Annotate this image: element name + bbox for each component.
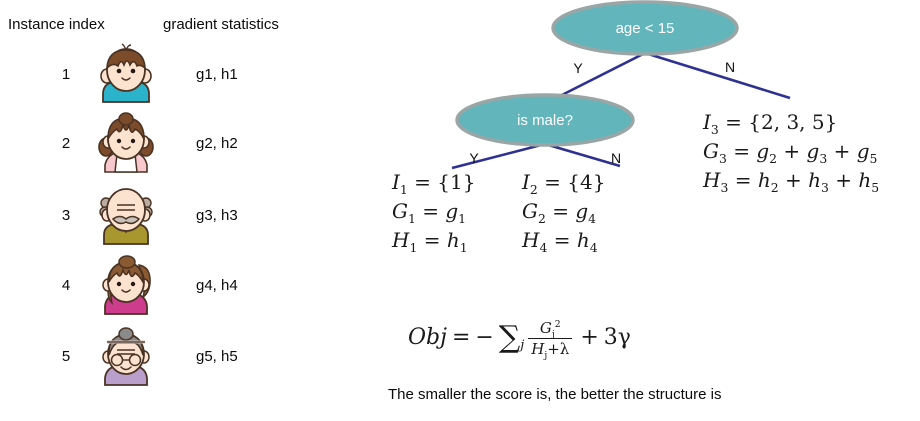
objective-minus-sign: −	[475, 325, 493, 350]
leaf-2-hessian-sum: H4 = h4	[522, 226, 605, 255]
gradient-statistics-value: g5, h5	[196, 348, 238, 365]
old-man-avatar-icon	[93, 183, 159, 249]
leaf-1-instance-set: I1 = {1}	[392, 168, 475, 197]
instance-row: 1 g1, h1	[0, 42, 340, 110]
leaf-2-gradient-sum: G2 = g4	[522, 197, 605, 226]
instance-table-panel: Instance index gradient statistics 1	[0, 0, 340, 421]
instance-index-value: 2	[55, 135, 77, 152]
instance-index-value: 1	[55, 66, 77, 83]
tree-edge-root-yes	[552, 53, 645, 100]
fraction-numerator: Gj2	[537, 319, 564, 338]
branch-label-root-no: N	[725, 59, 735, 75]
gradient-statistics-value: g1, h1	[196, 66, 238, 83]
girl-braids-avatar-icon	[93, 111, 159, 177]
summation-glyph: ∑	[499, 320, 520, 355]
caption-text: The smaller the score is, the better the…	[388, 386, 721, 403]
instance-row: 3 g3, h3	[0, 183, 340, 251]
leaf-1-statistics: I1 = {1} G1 = g1 H1 = h1	[392, 168, 475, 255]
tree-node-is-male-label: is male?	[517, 112, 573, 129]
branch-label-child-no: N	[611, 150, 621, 166]
instance-index-value: 3	[55, 207, 77, 224]
objective-equals: =	[452, 325, 470, 350]
instance-index-value: 5	[55, 348, 77, 365]
column-header-gradient-statistics: gradient statistics	[163, 16, 279, 33]
gradient-statistics-value: g4, h4	[196, 277, 238, 294]
tree-edge-child-yes	[452, 144, 545, 168]
gradient-statistics-value: g2, h2	[196, 135, 238, 152]
leaf-1-gradient-sum: G1 = g1	[392, 197, 475, 226]
leaf-2-statistics: I2 = {4} G2 = g4 H4 = h4	[522, 168, 605, 255]
branch-label-root-yes: Y	[573, 60, 583, 76]
objective-regularization-term: 3γ	[604, 325, 631, 350]
tree-edge-child-no	[545, 144, 620, 166]
xgboost-tree-structure-score-figure: Instance index gradient statistics 1	[0, 0, 920, 421]
leaf-3-statistics: I3 = {2, 3, 5} G3 = g2 + g3 + g5 H3 = h2…	[703, 108, 879, 195]
branch-label-child-yes: Y	[469, 150, 479, 166]
instance-index-value: 4	[55, 277, 77, 294]
summation-index: j	[520, 338, 524, 353]
leaf-3-gradient-sum: G3 = g2 + g3 + g5	[703, 137, 879, 166]
fraction-denominator: Hj+λ	[528, 338, 572, 358]
boy-avatar-icon	[93, 42, 159, 108]
instance-row: 2 g2, h2	[0, 111, 340, 179]
old-woman-avatar-icon	[93, 324, 159, 390]
instance-row: 4 g4, h4	[0, 253, 340, 321]
objective-fraction: Gj2 Hj+λ	[528, 319, 572, 358]
column-header-instance-index: Instance index	[8, 16, 105, 33]
young-woman-avatar-icon	[93, 253, 159, 319]
tree-node-root-label: age < 15	[616, 20, 675, 37]
leaf-3-hessian-sum: H3 = h2 + h3 + h5	[703, 166, 879, 195]
leaf-2-instance-set: I2 = {4}	[522, 168, 605, 197]
leaf-3-instance-set: I3 = {2, 3, 5}	[703, 108, 879, 137]
decision-tree-panel: age < 15 is male? Y N Y N I1 = {1} G1 = …	[340, 0, 920, 421]
gradient-statistics-value: g3, h3	[196, 207, 238, 224]
objective-lhs: Obj	[408, 325, 447, 350]
summation-symbol: ∑ j	[499, 320, 520, 355]
tree-edge-root-no	[645, 53, 790, 98]
leaf-1-hessian-sum: H1 = h1	[392, 226, 475, 255]
objective-formula: Obj = − ∑ j Gj2 Hj+λ + 3γ	[408, 318, 631, 357]
objective-plus-sign: +	[580, 325, 598, 350]
instance-row: 5	[0, 324, 340, 392]
